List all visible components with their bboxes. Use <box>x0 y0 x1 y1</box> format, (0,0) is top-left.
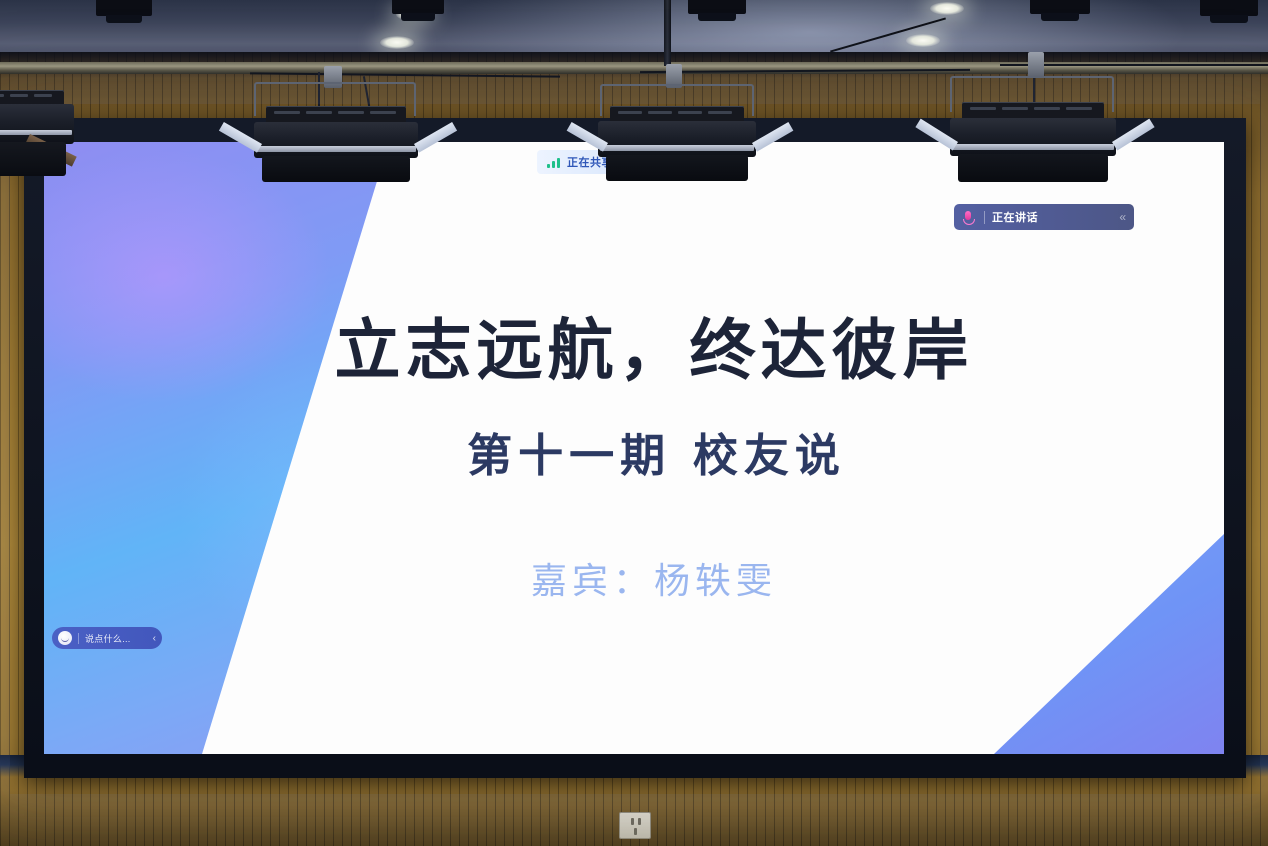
light-body <box>598 121 756 157</box>
wall-power-socket <box>619 812 651 839</box>
light-lower-housing <box>606 155 748 181</box>
light-lens <box>256 146 416 152</box>
light-body <box>950 118 1116 156</box>
light-clamp <box>1028 52 1044 78</box>
stage-light-fixture <box>248 78 428 184</box>
ceiling-downlight <box>906 34 940 47</box>
light-lens <box>952 144 1114 150</box>
ceiling-fixture <box>392 0 444 14</box>
speaking-status-label: 正在讲话 <box>992 209 1038 225</box>
smiley-icon[interactable] <box>58 631 72 645</box>
stage-light-fixture <box>594 82 764 186</box>
ceiling-downlight <box>380 36 414 49</box>
light-lower-housing <box>262 156 410 182</box>
chat-input-placeholder[interactable]: 说点什么... <box>85 632 131 645</box>
ceiling-fixture <box>1200 0 1258 16</box>
light-body <box>254 122 418 158</box>
light-lens <box>600 145 754 151</box>
chevron-left-icon[interactable]: ‹ <box>153 633 156 644</box>
ceiling-fixture <box>688 0 746 14</box>
stage-light-fixture <box>944 74 1124 184</box>
truss-drop-pole <box>664 0 671 66</box>
divider <box>78 633 79 644</box>
slide-guest: 嘉宾：杨轶雯 <box>44 552 1224 604</box>
speaking-status-badge[interactable]: 正在讲话 « <box>954 204 1134 230</box>
light-lower-housing <box>958 154 1108 182</box>
chat-input-bar[interactable]: 说点什么... ‹ <box>52 627 162 649</box>
light-lens <box>0 130 72 135</box>
signal-bars-icon <box>547 157 560 168</box>
ceiling-downlight <box>930 2 964 15</box>
slide-title: 立志远航，终达彼岸 <box>44 297 1224 393</box>
presentation-screen: 立志远航，终达彼岸 第十一期 校友说 嘉宾：杨轶雯 正在共享 正在讲话 « 说点… <box>44 142 1224 754</box>
stage-light-fixture <box>0 84 90 184</box>
microphone-icon <box>962 210 977 225</box>
ceiling-fixture <box>96 0 152 16</box>
slide-canvas: 立志远航，终达彼岸 第十一期 校友说 嘉宾：杨轶雯 正在共享 正在讲话 « 说点… <box>44 142 1224 754</box>
chevron-left-double-icon[interactable]: « <box>1119 210 1126 224</box>
ceiling-fixture <box>1030 0 1090 14</box>
divider <box>984 211 985 224</box>
light-lower-housing <box>0 142 66 176</box>
conference-hall-scene: 立志远航，终达彼岸 第十一期 校友说 嘉宾：杨轶雯 正在共享 正在讲话 « 说点… <box>0 0 1268 846</box>
slide-subtitle: 第十一期 校友说 <box>44 419 1224 484</box>
